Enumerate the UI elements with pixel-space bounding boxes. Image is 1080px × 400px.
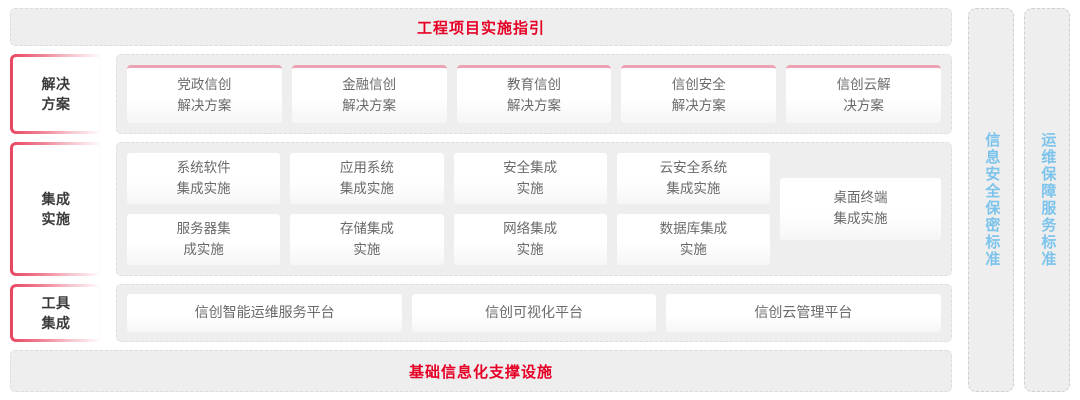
integration-card-4-text: 服务器集 成实施 xyxy=(173,219,235,261)
tool-card-1-label: 信创可视化平台 xyxy=(481,302,587,324)
band-label-text: 解决 方案 xyxy=(42,74,71,115)
integration-panel: 系统软件 集成实施 应用系统 集成实施 安全集成 实施 xyxy=(116,142,952,276)
solution-card-3-text: 信创安全 解决方案 xyxy=(668,75,730,117)
solution-card-2-line1: 教育信创 xyxy=(507,77,561,92)
tools-panel: 信创智能运维服务平台 信创可视化平台 信创云管理平台 xyxy=(116,284,952,342)
band-label-integration: 集成 实施 xyxy=(10,142,102,276)
band-label-line1: 工具 xyxy=(42,295,71,311)
integration-card-7-text: 数据库集成 实施 xyxy=(656,219,732,261)
solution-card-1-line2: 解决方案 xyxy=(342,98,396,113)
integration-card-7[interactable]: 数据库集成 实施 xyxy=(617,214,770,265)
solution-card-4-text: 信创云解 决方案 xyxy=(833,75,895,117)
solution-card-4-line1: 信创云解 xyxy=(837,77,891,92)
integration-card-grid: 系统软件 集成实施 应用系统 集成实施 安全集成 实施 xyxy=(127,153,770,265)
integration-card-1-line2: 集成实施 xyxy=(340,181,394,196)
integration-card-6-line2: 实施 xyxy=(517,242,544,257)
integration-card-7-line2: 实施 xyxy=(680,242,707,257)
integration-card-desktop-terminal[interactable]: 桌面终端 集成实施 xyxy=(780,178,941,240)
header-title-bar: 工程项目实施指引 xyxy=(10,8,952,46)
solution-card-0-text: 党政信创 解决方案 xyxy=(173,75,235,117)
band-label-line1: 解决 xyxy=(42,76,71,92)
integration-card-1-text: 应用系统 集成实施 xyxy=(336,158,398,200)
integration-card-6[interactable]: 网络集成 实施 xyxy=(454,214,607,265)
band-label-line2: 方案 xyxy=(42,96,71,112)
solution-card-3[interactable]: 信创安全 解决方案 xyxy=(621,65,776,123)
band-integration: 集成 实施 系统软件 集成实施 应用系统 集成实施 xyxy=(10,142,952,276)
integration-card-3-text: 云安全系统 集成实施 xyxy=(656,158,732,200)
solution-card-1[interactable]: 金融信创 解决方案 xyxy=(292,65,447,123)
page-title: 工程项目实施指引 xyxy=(417,17,545,38)
solution-card-4-line2: 决方案 xyxy=(843,98,884,113)
solution-card-0-line1: 党政信创 xyxy=(177,77,231,92)
band-label-solutions: 解决 方案 xyxy=(10,54,102,134)
vertical-column-security-standard-label: 信息安全保密标准 xyxy=(981,132,1002,268)
tool-card-2-label: 信创云管理平台 xyxy=(750,302,856,324)
integration-card-2-line1: 安全集成 xyxy=(503,160,557,175)
integration-card-1-line1: 应用系统 xyxy=(340,160,394,175)
integration-card-7-line1: 数据库集成 xyxy=(660,221,728,236)
integration-card-0-line2: 集成实施 xyxy=(177,181,231,196)
integration-card-1[interactable]: 应用系统 集成实施 xyxy=(290,153,443,204)
integration-card-4[interactable]: 服务器集 成实施 xyxy=(127,214,280,265)
integration-card-0-text: 系统软件 集成实施 xyxy=(173,158,235,200)
tool-card-0[interactable]: 信创智能运维服务平台 xyxy=(127,294,402,332)
vertical-column-ops-standard-label: 运维保障服务标准 xyxy=(1037,132,1058,268)
band-label-tools: 工具 集成 xyxy=(10,284,102,342)
integration-card-5-text: 存储集成 实施 xyxy=(336,219,398,261)
integration-card-3-line2: 集成实施 xyxy=(666,181,720,196)
solution-card-1-text: 金融信创 解决方案 xyxy=(338,75,400,117)
integration-card-3[interactable]: 云安全系统 集成实施 xyxy=(617,153,770,204)
vertical-column-security-standard[interactable]: 信息安全保密标准 xyxy=(968,8,1014,392)
solution-card-0-line2: 解决方案 xyxy=(177,98,231,113)
solution-card-2-text: 教育信创 解决方案 xyxy=(503,75,565,117)
footer-bar: 基础信息化支撑设施 xyxy=(10,350,952,392)
solution-card-4[interactable]: 信创云解 决方案 xyxy=(786,65,941,123)
integration-card-0[interactable]: 系统软件 集成实施 xyxy=(127,153,280,204)
integration-card-5-line1: 存储集成 xyxy=(340,221,394,236)
solution-card-2-line2: 解决方案 xyxy=(507,98,561,113)
band-label-text: 集成 实施 xyxy=(42,189,71,230)
diagram-root: 工程项目实施指引 解决 方案 党政信创 解决方案 金融信创 xyxy=(0,0,1080,400)
solutions-panel: 党政信创 解决方案 金融信创 解决方案 教育信创 解决方案 xyxy=(116,54,952,134)
main-column: 工程项目实施指引 解决 方案 党政信创 解决方案 金融信创 xyxy=(10,8,952,392)
tool-card-1[interactable]: 信创可视化平台 xyxy=(412,294,656,332)
integration-card-5-line2: 实施 xyxy=(353,242,380,257)
integration-card-desktop-terminal-line1: 桌面终端 xyxy=(834,190,888,205)
integration-card-desktop-terminal-line2: 集成实施 xyxy=(834,211,888,226)
band-tools: 工具 集成 信创智能运维服务平台 信创可视化平台 信创云管理平台 xyxy=(10,284,952,342)
integration-card-3-line1: 云安全系统 xyxy=(660,160,728,175)
solution-card-3-line1: 信创安全 xyxy=(672,77,726,92)
band-label-text: 工具 集成 xyxy=(42,293,71,334)
tool-card-2[interactable]: 信创云管理平台 xyxy=(666,294,941,332)
solution-card-2[interactable]: 教育信创 解决方案 xyxy=(457,65,612,123)
tool-card-0-label: 信创智能运维服务平台 xyxy=(191,302,339,324)
solution-card-1-line1: 金融信创 xyxy=(342,77,396,92)
solution-card-3-line2: 解决方案 xyxy=(672,98,726,113)
integration-card-desktop-terminal-text: 桌面终端 集成实施 xyxy=(830,188,892,230)
integration-card-6-text: 网络集成 实施 xyxy=(499,219,561,261)
band-label-line2: 集成 xyxy=(42,315,71,331)
integration-card-5[interactable]: 存储集成 实施 xyxy=(290,214,443,265)
solution-card-0[interactable]: 党政信创 解决方案 xyxy=(127,65,282,123)
band-solutions: 解决 方案 党政信创 解决方案 金融信创 解决方案 xyxy=(10,54,952,134)
integration-card-2-text: 安全集成 实施 xyxy=(499,158,561,200)
integration-card-2[interactable]: 安全集成 实施 xyxy=(454,153,607,204)
vertical-column-ops-standard[interactable]: 运维保障服务标准 xyxy=(1024,8,1070,392)
integration-card-2-line2: 实施 xyxy=(517,181,544,196)
band-label-line2: 实施 xyxy=(42,211,71,227)
band-label-line1: 集成 xyxy=(42,191,71,207)
integration-card-4-line1: 服务器集 xyxy=(177,221,231,236)
footer-title: 基础信息化支撑设施 xyxy=(409,361,553,382)
integration-card-6-line1: 网络集成 xyxy=(503,221,557,236)
integration-card-4-line2: 成实施 xyxy=(183,242,224,257)
integration-card-0-line1: 系统软件 xyxy=(177,160,231,175)
